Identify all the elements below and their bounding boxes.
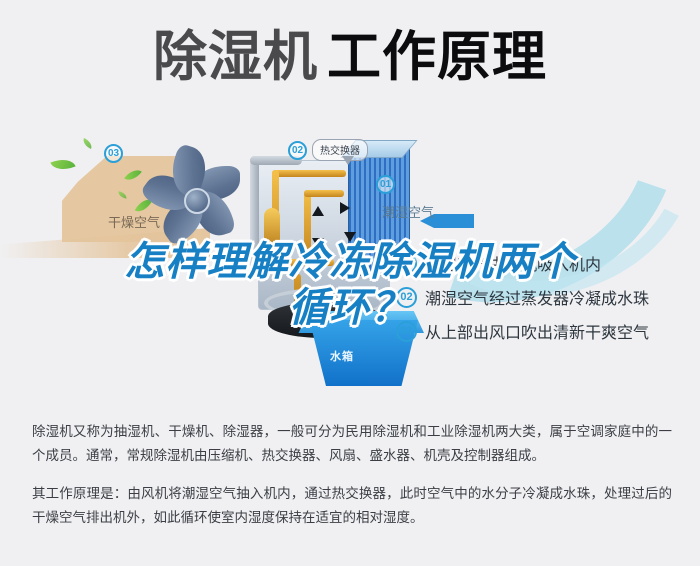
flow-arrow-up-icon [312,206,324,216]
flow-arrow-down-icon [344,232,356,242]
callout-label-heat-exchanger: 热交换器 [312,139,368,161]
leaf-icon [50,154,75,174]
legend-badge-02: 02 [396,287,417,308]
illustration-stage: 水箱 03 干燥空气 02 热交换器 01 潮湿空气 01 潮湿空气由风机吸入机… [0,118,700,410]
callout-badge-03: 03 [104,144,123,163]
page-title: 除湿机工作原理 [0,26,700,88]
flow-arrow-right-icon [340,202,350,214]
flow-arrow-down-icon [312,238,324,248]
refrigerant-pipe-icon [304,190,311,260]
fan-hub-icon [184,188,210,214]
page-title-part1: 除湿机 [153,26,318,88]
refrigerant-pipe-icon [272,170,346,177]
body-paragraph-2: 其工作原理是：由风机将潮湿空气抽入机内，通过热交换器，此时空气中的水分子冷凝成水… [32,482,672,530]
legend-list: 01 潮湿空气由风机吸入机内 02 潮湿空气经过蒸发器冷凝成水珠 03 从上部出… [396,246,692,348]
water-tank-label: 水箱 [330,348,354,364]
refrigerant-pipe-icon [304,190,344,197]
callout-badge-02: 02 [288,141,307,160]
legend-text-01: 潮湿空气由风机吸入机内 [425,251,601,275]
article-body: 除湿机又称为抽湿机、干燥机、除湿器，一般可分为民用除湿机和工业除湿机两大类，属于… [32,420,672,530]
page-title-part2: 工作原理 [327,26,547,88]
callout-label-dry-air: 干燥空气 [108,212,160,231]
air-duct-icon [250,156,259,274]
legend-text-03: 从上部出风口吹出清新干爽空气 [425,319,649,343]
legend-text-02: 潮湿空气经过蒸发器冷凝成水珠 [425,285,649,309]
leaf-icon [81,138,94,149]
callout-bubble-tail-icon [342,156,354,165]
legend-item: 03 从上部出风口吹出清新干爽空气 [396,314,692,348]
fan-icon [152,158,248,254]
legend-item: 02 潮湿空气经过蒸发器冷凝成水珠 [396,280,692,314]
body-paragraph-1: 除湿机又称为抽湿机、干燥机、除湿器，一般可分为民用除湿机和工业除湿机两大类，属于… [32,420,672,468]
refrigerant-pipe-icon [272,259,334,266]
callout-label-humid-air: 潮湿空气 [382,202,434,221]
callout-badge-01: 01 [376,175,395,194]
legend-badge-03: 03 [396,321,417,342]
page-root: 除湿机工作原理 [0,0,700,566]
legend-item: 01 潮湿空气由风机吸入机内 [396,246,692,280]
accumulator-icon [264,208,280,248]
legend-badge-01: 01 [396,253,417,274]
